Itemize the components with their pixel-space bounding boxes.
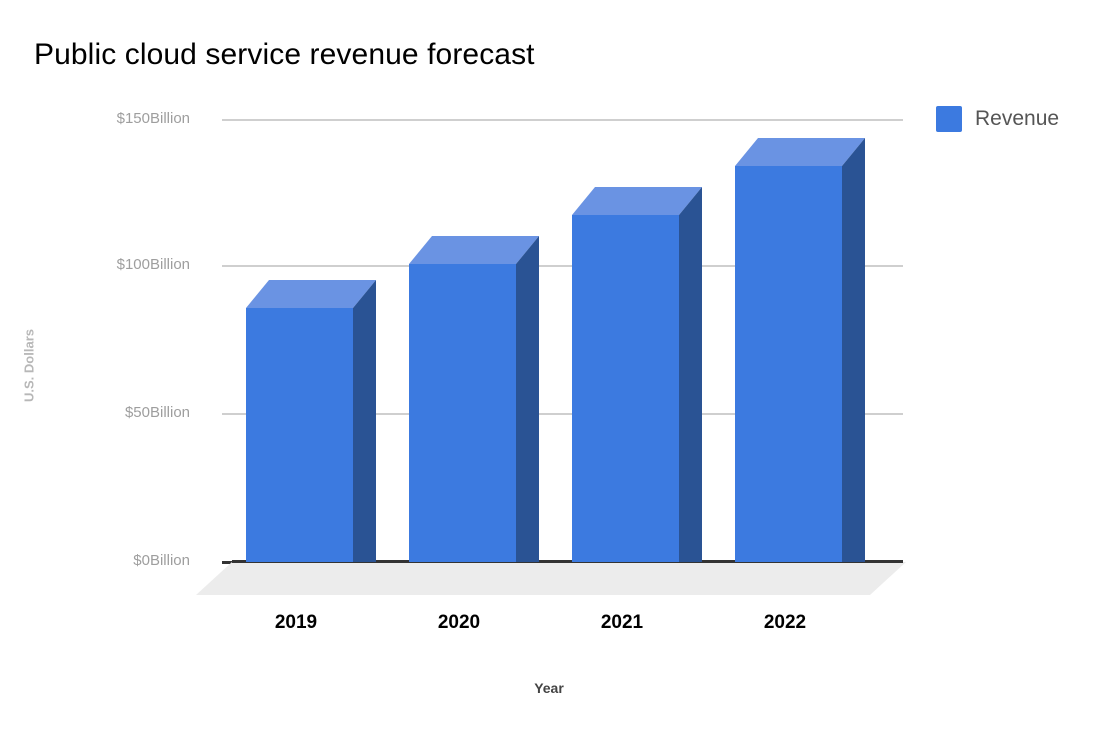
- bar-side-face: [679, 187, 702, 562]
- bar-front-face: [572, 215, 679, 562]
- chart-container: Public cloud service revenue forecast U.…: [0, 0, 1106, 742]
- bar-2020[interactable]: [409, 236, 539, 562]
- bar-side-face: [842, 138, 865, 562]
- bar-2019[interactable]: [246, 280, 376, 562]
- bar-side-face: [353, 280, 376, 562]
- x-axis-title-text: Year: [534, 680, 564, 696]
- bar-front-face: [246, 308, 353, 562]
- chart-legend: Revenue: [936, 106, 1059, 132]
- x-tick-label-2022: 2022: [705, 612, 865, 634]
- bar-2021[interactable]: [572, 187, 702, 562]
- x-tick-label-2020: 2020: [379, 612, 539, 634]
- legend-swatch-revenue[interactable]: [936, 106, 962, 132]
- legend-label-revenue[interactable]: Revenue: [975, 107, 1059, 131]
- x-tick-label-2021: 2021: [542, 612, 702, 634]
- bar-2022[interactable]: [735, 138, 865, 562]
- x-axis-title: Year: [0, 680, 1106, 696]
- bar-side-face: [516, 236, 539, 562]
- bar-front-face: [409, 264, 516, 562]
- bar-front-face: [735, 166, 842, 562]
- x-tick-label-2019: 2019: [216, 612, 376, 634]
